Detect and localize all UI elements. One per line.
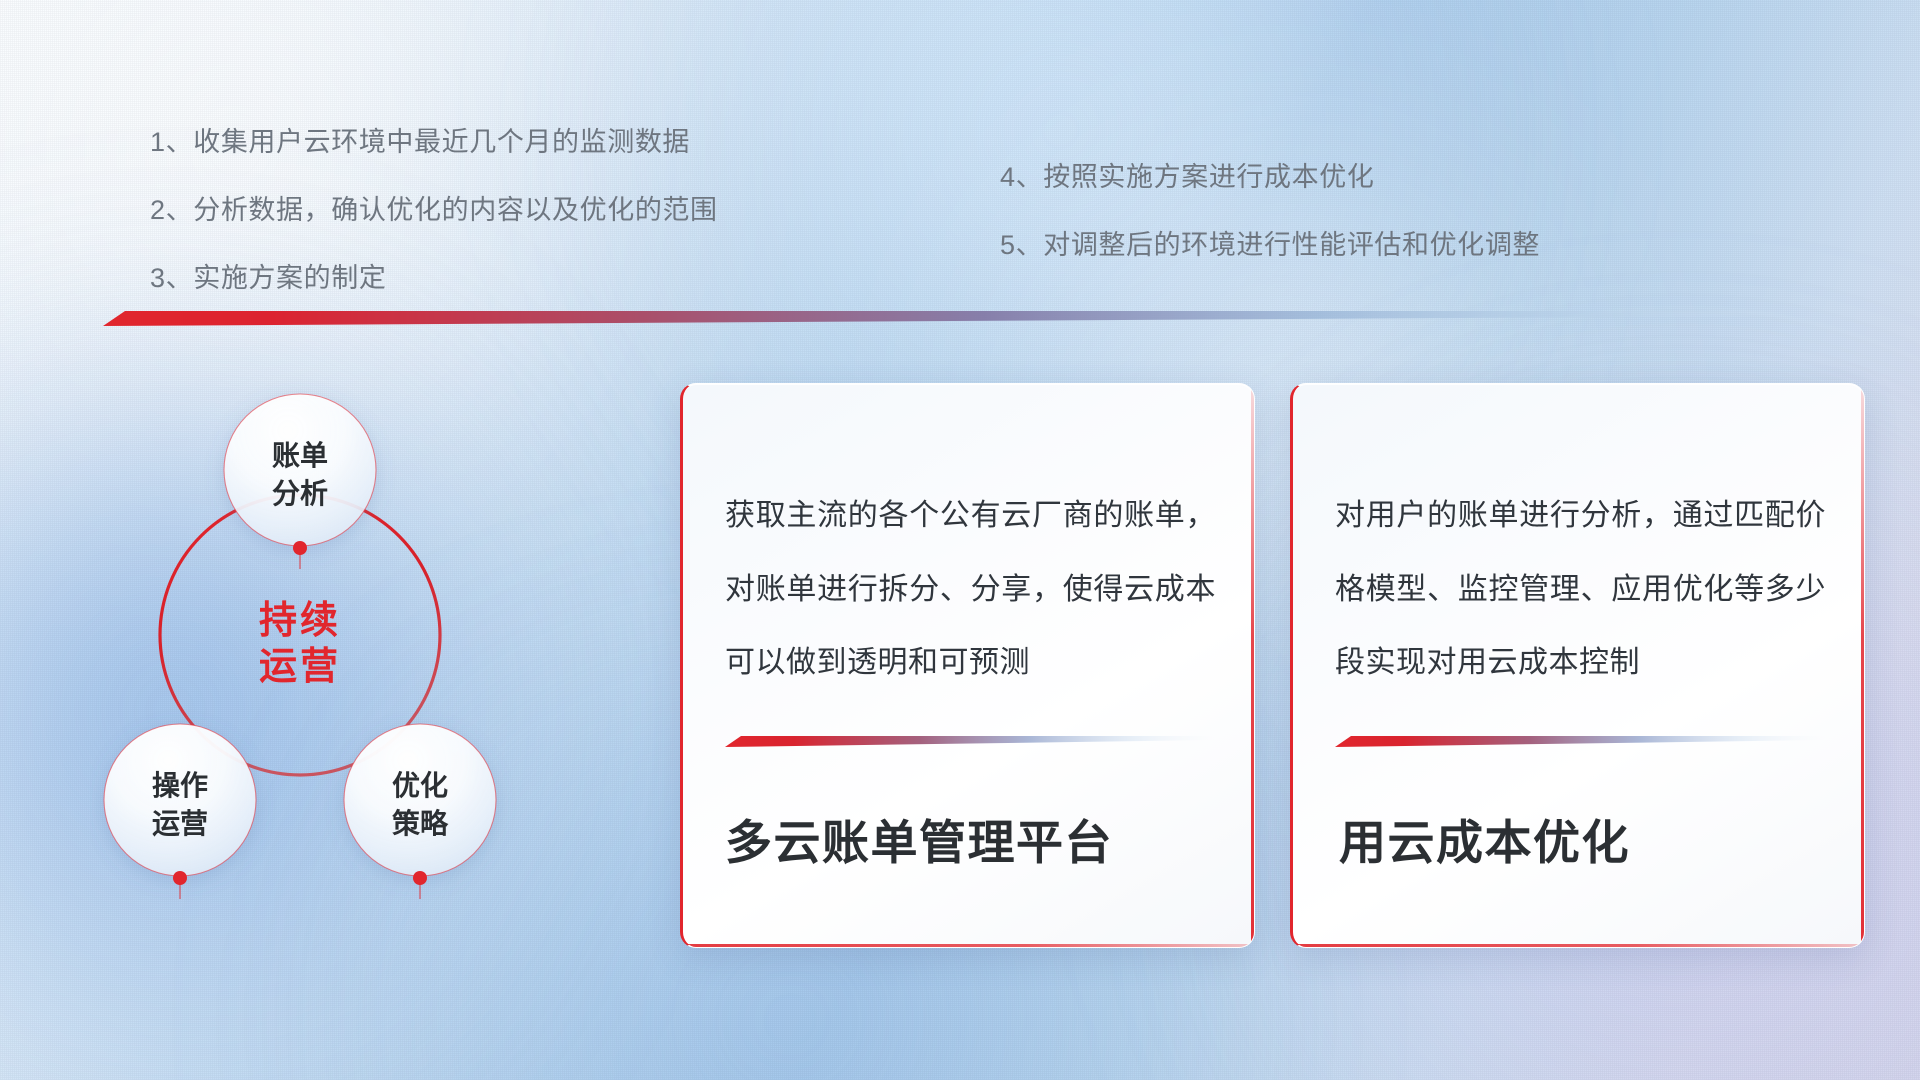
node-label-line2: 运营 [152, 808, 208, 839]
node-dot-icon [173, 871, 187, 885]
step-item-1: 1、收集用户云环境中最近几个月的监测数据 [150, 120, 718, 159]
steps-list-right: 4、按照实施方案进行成本优化 5、对调整后的环境进行性能评估和优化调整 [1000, 155, 1540, 262]
card-body-text: 获取主流的各个公有云厂商的账单，对账单进行拆分、分享，使得云成本可以做到透明和可… [725, 479, 1216, 700]
steps-list-left: 1、收集用户云环境中最近几个月的监测数据 2、分析数据，确认优化的内容以及优化的… [150, 120, 718, 295]
node-label-line2: 策略 [392, 807, 449, 839]
diagram-node-operations[interactable]: 操作 运营 [104, 724, 256, 899]
node-label-line1: 操作 [152, 770, 208, 801]
diagram-node-billing-analysis[interactable]: 账单 分析 [224, 394, 376, 569]
node-label-line2: 分析 [272, 478, 328, 509]
node-label-line1: 优化 [392, 770, 448, 801]
step-item-5: 5、对调整后的环境进行性能评估和优化调整 [1000, 223, 1540, 262]
feature-card-multicloud-billing[interactable]: 获取主流的各个公有云厂商的账单，对账单进行拆分、分享，使得云成本可以做到透明和可… [680, 383, 1255, 948]
section-divider [103, 307, 1796, 326]
card-title: 用云成本优化 [1339, 804, 1630, 873]
card-body-text: 对用户的账单进行分析，通过匹配价格模型、监控管理、应用优化等多少段实现对用云成本… [1335, 479, 1826, 700]
card-title: 多云账单管理平台 [725, 804, 1113, 873]
step-item-2: 2、分析数据，确认优化的内容以及优化的范围 [150, 188, 718, 227]
diagram-node-optimization-strategy[interactable]: 优化 策略 [344, 724, 496, 899]
diagram-center-label-line2: 运营 [259, 646, 341, 688]
continuous-operation-diagram: 账单 分析 操作 运营 优化 策略 持续 运营 [90, 345, 635, 945]
node-label-line1: 账单 [272, 440, 328, 471]
card-divider [725, 734, 1215, 747]
card-divider [1335, 734, 1825, 747]
node-dot-icon [293, 541, 307, 555]
step-item-4: 4、按照实施方案进行成本优化 [1000, 155, 1540, 194]
feature-card-cloud-cost-optimization[interactable]: 对用户的账单进行分析，通过匹配价格模型、监控管理、应用优化等多少段实现对用云成本… [1290, 383, 1865, 948]
diagram-center-label-line1: 持续 [259, 600, 341, 642]
node-dot-icon [413, 871, 427, 885]
step-item-3: 3、实施方案的制定 [150, 256, 718, 295]
